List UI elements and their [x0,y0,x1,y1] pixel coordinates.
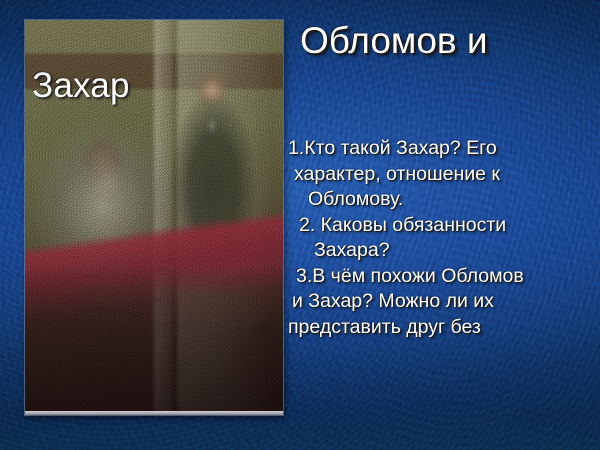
image-caption: Захар [32,68,130,103]
question-line: и Захар? Можно ли их [288,289,596,315]
question-line: Обломову. [288,187,596,213]
question-line: характер, отношение к [288,162,596,188]
question-line: 3.В чём похожи Обломов [288,264,596,290]
question-line: Захара? [288,238,596,264]
question-line: представить друг без [288,315,596,341]
question-line: 1.Кто такой Захар? Его [288,136,596,162]
slide-question-list: 1.Кто такой Захар? Егохарактер, отношени… [288,136,596,340]
presentation-slide: Захар Обломов и 1.Кто такой Захар? Егоха… [0,0,600,450]
illustration-bottom-edge [25,411,283,415]
question-line: 2. Каковы обязанности [288,213,596,239]
slide-title: Обломов и [300,22,590,61]
